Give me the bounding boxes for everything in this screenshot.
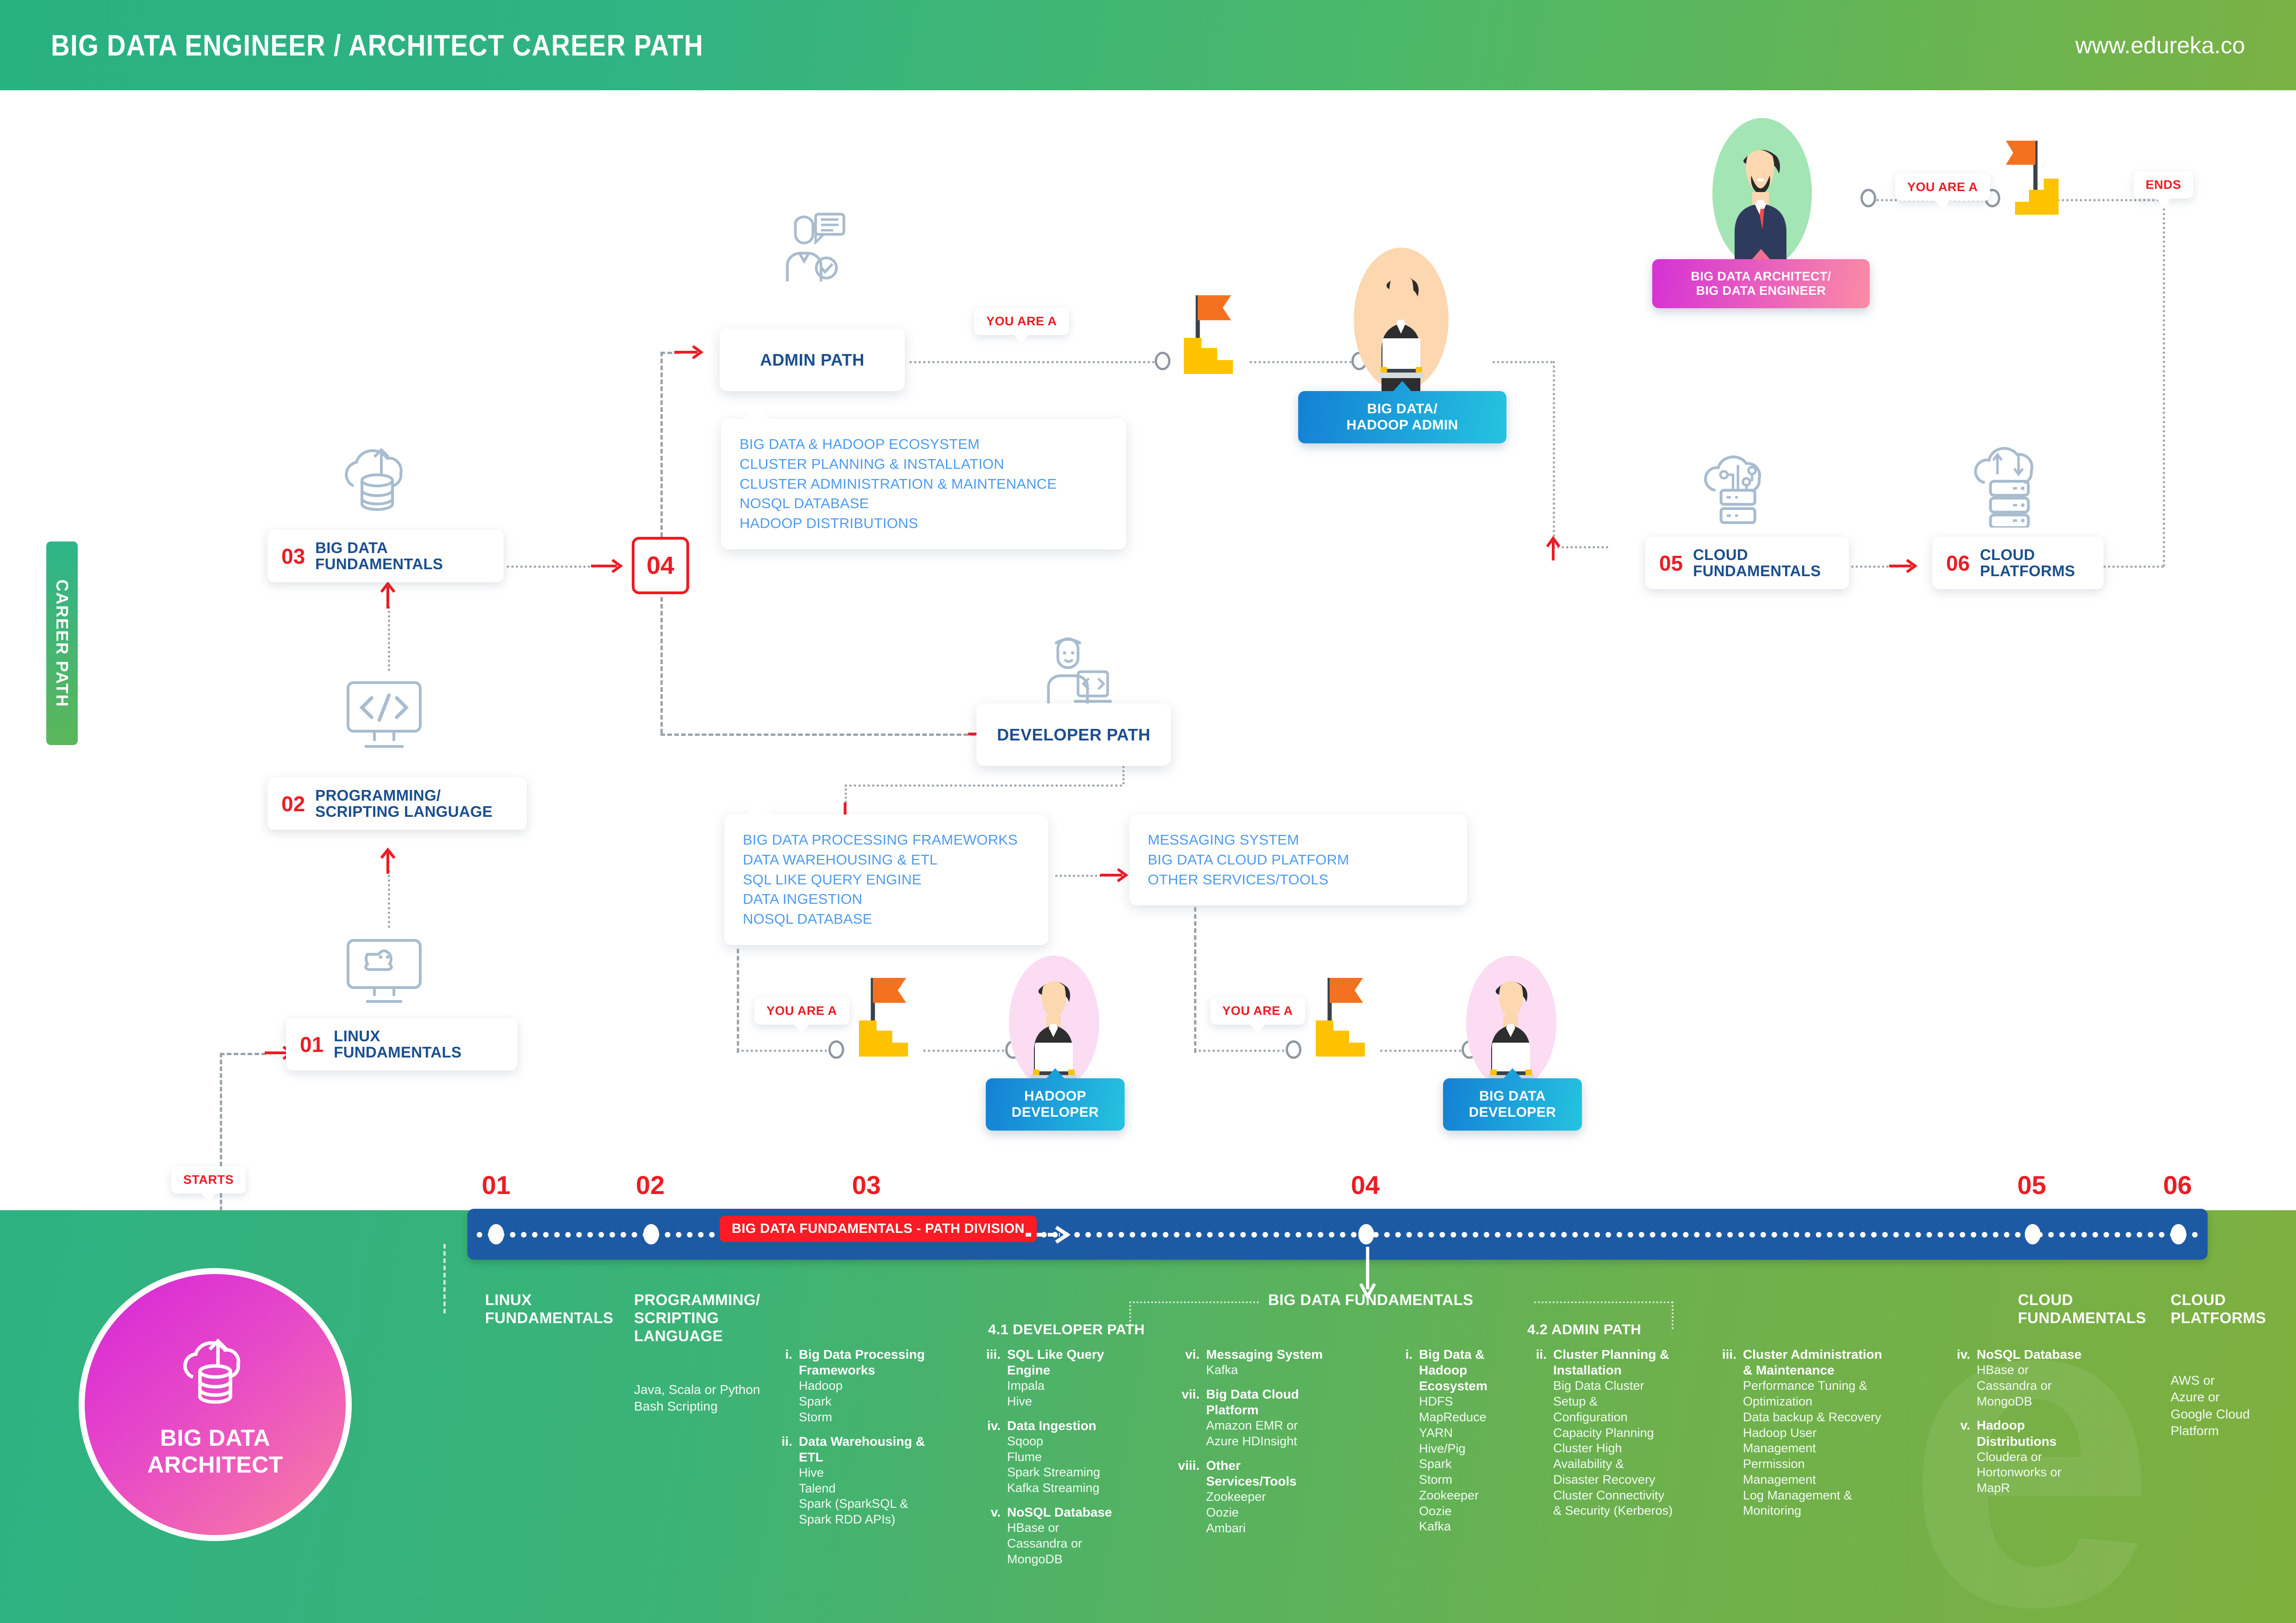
ends-label: ENDS — [2146, 178, 2181, 192]
item-title: Hadoop Distributions — [1977, 1418, 2090, 1449]
subheader-developer-path: 4.1 DEVELOPER PATH — [988, 1321, 1145, 1338]
bottom-col-header-bigdata: BIG DATA FUNDAMENTALS — [1268, 1291, 1546, 1309]
item-numeral: i. — [768, 1347, 792, 1425]
cloud-database-icon — [174, 1331, 257, 1412]
item-sub: Oozie — [1206, 1505, 1333, 1521]
item-sub: Hive — [1007, 1394, 1125, 1410]
list-item: iv. NoSQL Database HBase or Cassandra or… — [1946, 1347, 2090, 1409]
item-sub: Spark Streaming — [1007, 1465, 1125, 1480]
node-programming-language[interactable]: 02 PROGRAMMING/ SCRIPTING LANGUAGE — [268, 777, 527, 830]
item-sub: Spark — [799, 1394, 949, 1410]
bracket-right — [1534, 1301, 1673, 1303]
item-sub: Monitoring — [1743, 1503, 1888, 1519]
admin-skill-item: CLUSTER ADMINISTRATION & MAINTENANCE — [740, 474, 1108, 494]
admin-skill-item: BIG DATA & HADOOP ECOSYSTEM — [740, 435, 1108, 454]
connector-devskill1-to-2 — [1055, 875, 1106, 877]
hadoop-dev-you-are-a-bubble: YOU ARE A — [754, 997, 849, 1025]
career-path-tab: CAREER PATH — [46, 541, 78, 745]
bottom-col-header-linux: LINUX FUNDAMENTALS — [485, 1291, 624, 1327]
connector-starts-to-circle — [443, 1244, 446, 1313]
item-sub: Impala — [1007, 1378, 1125, 1394]
bigdata-architect-label: BIG DATA ARCHITECT — [147, 1425, 283, 1478]
list-item: v. NoSQL Database HBase or Cassandra or … — [977, 1505, 1125, 1567]
subheader-admin-path: 4.2 ADMIN PATH — [1527, 1321, 1641, 1338]
item-title: Big Data Processing Frameworks — [799, 1347, 949, 1378]
connector-node-circle — [828, 1040, 844, 1059]
item-title: Data Ingestion — [1007, 1418, 1125, 1434]
connector-devpath-left — [845, 784, 1122, 787]
timeline-number: 06 — [2163, 1170, 2192, 1200]
item-sub: Setup & — [1553, 1394, 1689, 1410]
connector-04-up — [660, 352, 663, 537]
cloud-database-icon — [336, 440, 419, 518]
list-item: viii. Other Services/Tools Zookeeper Ooz… — [1176, 1458, 1333, 1536]
role-label: HADOOP DEVELOPER — [1012, 1088, 1099, 1120]
list-item: iii. SQL Like Query Engine Impala Hive — [977, 1347, 1125, 1410]
list-item: ii. Cluster Planning & Installation Big … — [1523, 1347, 1689, 1519]
bottom-cloud-list: iv. NoSQL Database HBase or Cassandra or… — [1946, 1347, 2090, 1505]
developer-skill-item: DATA WAREHOUSING & ETL — [743, 850, 1030, 870]
you-are-a-label: YOU ARE A — [1222, 1004, 1293, 1018]
bottom-developer-list-b: iii. SQL Like Query Engine Impala Hive i… — [977, 1347, 1125, 1575]
node-label: BIG DATA FUNDAMENTALS — [315, 540, 443, 572]
item-sub: Disaster Recovery — [1553, 1472, 1689, 1488]
avatar-hadoop-admin — [1354, 248, 1449, 391]
node-cloud-platforms[interactable]: 06 CLOUD PLATFORMS — [1932, 537, 2103, 589]
role-chip-bigdata-developer[interactable]: BIG DATA DEVELOPER — [1443, 1078, 1582, 1131]
item-sub: Management — [1743, 1472, 1888, 1488]
developer-skills-bubble-1: BIG DATA PROCESSING FRAMEWORKS DATA WARE… — [724, 815, 1048, 945]
item-sub: HDFS — [1419, 1394, 1523, 1410]
item-numeral: iii. — [1712, 1347, 1736, 1519]
developer-skill-item: DATA INGESTION — [743, 889, 1030, 909]
item-sub: & Security (Kerberos) — [1553, 1503, 1689, 1519]
timeline-number: 02 — [636, 1170, 665, 1200]
item-sub: Cluster Connectivity — [1553, 1488, 1689, 1504]
item-sub: YARN — [1419, 1425, 1523, 1441]
connector-04-down — [660, 597, 663, 734]
arrow-to-cloud-platforms — [1888, 554, 1922, 578]
item-sub: Management — [1743, 1441, 1888, 1456]
starts-bubble: STARTS — [171, 1166, 246, 1194]
bottom-developer-list-a: i. Big Data Processing Frameworks Hadoop… — [768, 1347, 949, 1536]
timeline-number: 01 — [482, 1170, 510, 1200]
item-sub: Zookeeper — [1206, 1489, 1333, 1505]
item-sub: Hadoop — [799, 1378, 949, 1394]
list-item: i. Big Data Processing Frameworks Hadoop… — [768, 1347, 949, 1425]
node-linux-fundamentals[interactable]: 01 LINUX FUNDAMENTALS — [286, 1018, 517, 1070]
bigdata-dev-you-are-a-bubble: YOU ARE A — [1210, 997, 1305, 1025]
item-sub: Cassandra or — [1007, 1536, 1125, 1552]
connector-to-bigdata-dev — [1194, 907, 1196, 1053]
timeline-dot[interactable] — [1358, 1224, 1374, 1244]
item-title: Other Services/Tools — [1206, 1458, 1333, 1489]
you-are-a-label: YOU ARE A — [766, 1004, 837, 1018]
developer-skill-item: SQL LIKE QUERY ENGINE — [743, 870, 1030, 890]
code-monitor-icon — [342, 676, 426, 759]
admin-path-card[interactable]: ADMIN PATH — [720, 329, 905, 391]
item-title: Cluster Planning & Installation — [1553, 1347, 1689, 1378]
item-sub: Performance Tuning & — [1743, 1378, 1888, 1394]
list-item: i. Big Data & Hadoop Ecosystem HDFS MapR… — [1388, 1347, 1523, 1535]
admin-path-label: ADMIN PATH — [760, 350, 865, 370]
cloud-network-icon — [1699, 447, 1780, 528]
item-sub: Flume — [1007, 1449, 1125, 1465]
item-sub: Talend — [799, 1481, 949, 1497]
connector-admin-to-milestone — [909, 361, 1159, 363]
list-item: Azure or — [2171, 1389, 2286, 1405]
avatar-bigdata-architect — [1712, 118, 1812, 268]
node-number: 05 — [1659, 553, 1683, 574]
connector-hadoop-dev-line — [737, 1050, 832, 1052]
item-sub: Availability & — [1553, 1456, 1689, 1472]
item-numeral: i. — [1388, 1347, 1412, 1535]
connector-linux-to-programming — [388, 870, 390, 928]
admin-skill-item: NOSQL DATABASE — [740, 494, 1108, 514]
item-sub: HBase or — [1007, 1520, 1125, 1536]
connector-devpath-down2 — [845, 784, 847, 803]
item-sub: Hadoop User — [1743, 1425, 1888, 1441]
node-number: 01 — [300, 1034, 324, 1055]
arrow-up-bigdata — [375, 581, 401, 609]
item-sub: Kafka — [1206, 1362, 1333, 1378]
milestone-flag-stairs-icon — [1303, 970, 1381, 1062]
item-sub: Log Management & — [1743, 1488, 1888, 1504]
role-chip-hadoop-admin[interactable]: BIG DATA/ HADOOP ADMIN — [1298, 391, 1506, 443]
item-numeral: iii. — [977, 1347, 1001, 1410]
connector-04-down-right — [660, 734, 975, 736]
item-sub: Sqoop — [1007, 1434, 1125, 1449]
item-sub: Kafka — [1419, 1519, 1523, 1535]
item-sub: MapR — [1977, 1480, 2090, 1496]
bracket-left — [1129, 1301, 1259, 1303]
bracket-right-drop — [1672, 1301, 1674, 1329]
starts-label: STARTS — [183, 1173, 234, 1187]
arrow-to-04 — [590, 554, 627, 578]
item-sub: Hive/Pig — [1419, 1441, 1523, 1457]
item-sub: Spark (SparkSQL & — [799, 1496, 949, 1512]
developer-skills-bubble-2: MESSAGING SYSTEM BIG DATA CLOUD PLATFORM… — [1129, 815, 1467, 905]
list-item: AWS or — [2171, 1372, 2286, 1389]
milestone-flag-stairs-icon — [1171, 287, 1250, 379]
avatar-figure — [1712, 118, 1812, 268]
item-sub: Permission — [1743, 1456, 1888, 1472]
node-label: CLOUD PLATFORMS — [1980, 547, 2075, 579]
bottom-programming-list: Java, Scala or Python Bash Scripting — [634, 1381, 768, 1415]
item-numeral: vii. — [1176, 1387, 1200, 1449]
bottom-developer-list-c: vi. Messaging System Kafka vii. Big Data… — [1176, 1347, 1333, 1544]
node-label: PROGRAMMING/ SCRIPTING LANGUAGE — [315, 788, 492, 820]
item-numeral: ii. — [1523, 1347, 1547, 1519]
developer-skill-item: BIG DATA CLOUD PLATFORM — [1148, 850, 1449, 870]
admin-skill-item: HADOOP DISTRIBUTIONS — [740, 514, 1108, 534]
list-item: Bash Scripting — [634, 1398, 768, 1415]
item-numeral: viii. — [1176, 1458, 1200, 1536]
timeline-dot[interactable] — [2171, 1224, 2186, 1244]
list-item: iv. Data Ingestion Sqoop Flume Spark Str… — [977, 1418, 1125, 1496]
item-title: Big Data Cloud Platform — [1206, 1387, 1333, 1418]
role-label: BIG DATA DEVELOPER — [1469, 1088, 1556, 1120]
bottom-admin-list-b: ii. Cluster Planning & Installation Big … — [1523, 1347, 1689, 1527]
developer-skill-item: OTHER SERVICES/TOOLS — [1148, 870, 1449, 890]
brand-url: www.edureka.co — [2075, 32, 2245, 59]
connector-admin-to-cloud-b — [1553, 361, 1555, 546]
role-chip-bigdata-architect[interactable]: BIG DATA ARCHITECT/ BIG DATA ENGINEER — [1652, 259, 1870, 308]
item-sub: Kafka Streaming — [1007, 1480, 1125, 1496]
avatar-figure — [1354, 248, 1449, 391]
timeline-dot[interactable] — [2025, 1224, 2041, 1244]
item-title: NoSQL Database — [1977, 1347, 2090, 1362]
developer-path-label: DEVELOPER PATH — [997, 725, 1151, 745]
list-item: Google Cloud — [2171, 1406, 2286, 1423]
connector-starts-up — [220, 1053, 222, 1166]
timeline-number: 05 — [2017, 1170, 2046, 1200]
node-number: 06 — [1946, 553, 1970, 574]
list-item: ii. Data Warehousing & ETL Hive Talend S… — [768, 1434, 949, 1528]
item-numeral: v. — [1946, 1418, 1970, 1496]
item-sub: Cassandra or — [1977, 1378, 2090, 1394]
role-label: BIG DATA/ HADOOP ADMIN — [1346, 401, 1458, 433]
node-bigdata-fundamentals[interactable]: 03 BIG DATA FUNDAMENTALS — [268, 530, 504, 582]
page-title: BIG DATA ENGINEER / ARCHITECT CAREER PAT… — [51, 28, 703, 62]
item-sub: Storm — [799, 1410, 949, 1425]
item-sub: MongoDB — [1007, 1552, 1125, 1567]
connector-bigdata-to-04 — [507, 566, 595, 568]
bottom-admin-list-c: iii. Cluster Administration & Maintenanc… — [1712, 1347, 1888, 1527]
item-title: Cluster Administration & Maintenance — [1743, 1347, 1888, 1378]
item-sub: Oozie — [1419, 1504, 1523, 1519]
bottom-col-header-programming: PROGRAMMING/ SCRIPTING LANGUAGE — [634, 1291, 773, 1345]
admin-skill-item: CLUSTER PLANNING & INSTALLATION — [740, 454, 1108, 474]
bigdata-architect-badge[interactable]: BIG DATA ARCHITECT — [79, 1268, 352, 1541]
list-item: v. Hadoop Distributions Cloudera or Hort… — [1946, 1418, 2090, 1496]
admin-you-are-a-bubble: YOU ARE A — [974, 308, 1069, 335]
connector-admin-to-cloud-a — [1493, 361, 1553, 363]
bottom-col-header-cloudplat: CLOUD PLATFORMS — [2171, 1291, 2296, 1327]
item-sub: Spark RDD APIs) — [799, 1512, 949, 1528]
connector-node-circle — [1860, 189, 1876, 207]
admin-skills-bubble: BIG DATA & HADOOP ECOSYSTEM CLUSTER PLAN… — [721, 419, 1126, 549]
item-numeral: iv. — [1946, 1347, 1970, 1409]
stage-04-label: 04 — [647, 551, 674, 580]
role-label: BIG DATA ARCHITECT/ BIG DATA ENGINEER — [1691, 269, 1831, 298]
item-sub: Zookeeper — [1419, 1488, 1523, 1504]
admin-user-icon — [775, 208, 849, 285]
connector-cloudplat-up — [2163, 199, 2165, 567]
item-sub: Azure HDInsight — [1206, 1434, 1333, 1449]
item-sub: Cloudera or — [1977, 1449, 2090, 1465]
item-sub: Data backup & Recovery — [1743, 1410, 1888, 1425]
bottom-admin-list-a: i. Big Data & Hadoop Ecosystem HDFS MapR… — [1388, 1347, 1523, 1543]
item-numeral: ii. — [768, 1434, 792, 1528]
item-title: Data Warehousing & ETL — [799, 1434, 949, 1465]
milestone-flag-stairs-icon — [1999, 134, 2069, 218]
item-sub: Cluster High — [1553, 1441, 1689, 1456]
page-header: BIG DATA ENGINEER / ARCHITECT CAREER PAT… — [0, 0, 2296, 90]
connector-cloudplat-right — [2103, 566, 2164, 568]
connector-starts-right — [220, 1053, 266, 1055]
arrow-to-devskills2 — [1099, 863, 1132, 887]
connector-programming-to-bigdata — [388, 606, 390, 671]
item-sub: Capacity Planning — [1553, 1425, 1689, 1441]
timeline-number: 04 — [1351, 1170, 1380, 1200]
stage-04-badge[interactable]: 04 — [632, 537, 689, 594]
timeline-dot[interactable] — [643, 1224, 659, 1244]
timeline-number: 03 — [852, 1170, 881, 1200]
developer-skill-item: MESSAGING SYSTEM — [1148, 830, 1449, 850]
list-item: vii. Big Data Cloud Platform Amazon EMR … — [1176, 1387, 1333, 1449]
item-title: Messaging System — [1206, 1347, 1333, 1362]
timeline-arrow-icon — [1023, 1222, 1074, 1248]
item-sub: Hortonworks or — [1977, 1465, 2090, 1480]
path-division-label: BIG DATA FUNDAMENTALS - PATH DIVISION — [732, 1221, 1025, 1236]
item-sub: MongoDB — [1977, 1394, 2090, 1410]
path-division-pill: BIG DATA FUNDAMENTALS - PATH DIVISION — [720, 1216, 1037, 1242]
item-title: Big Data & Hadoop Ecosystem — [1419, 1347, 1523, 1394]
item-sub: Storm — [1419, 1472, 1523, 1488]
list-item: Java, Scala or Python — [634, 1381, 768, 1398]
developer-path-card[interactable]: DEVELOPER PATH — [977, 703, 1171, 766]
linux-monitor-icon — [342, 935, 426, 1011]
connector-milestone-hadoopdev — [923, 1050, 1009, 1052]
milestone-flag-stairs-icon — [846, 970, 925, 1062]
item-sub: Ambari — [1206, 1521, 1333, 1536]
cloud-servers-icon — [1969, 442, 2050, 528]
item-sub: HBase or — [1977, 1362, 2090, 1378]
ends-bubble: ENDS — [2134, 171, 2193, 199]
developer-skill-item: BIG DATA PROCESSING FRAMEWORKS — [743, 830, 1030, 850]
item-numeral: iv. — [977, 1418, 1001, 1496]
infographic-canvas: BIG DATA ENGINEER / ARCHITECT CAREER PAT… — [0, 0, 2296, 1623]
connector-devpath-down — [1122, 766, 1125, 784]
item-numeral: v. — [977, 1505, 1001, 1567]
list-item: Platform — [2171, 1423, 2286, 1439]
developer-user-icon — [1039, 634, 1113, 708]
node-label: CLOUD FUNDAMENTALS — [1693, 547, 1821, 579]
list-item: vi. Messaging System Kafka — [1176, 1347, 1333, 1378]
bottom-cloud-platform-list: AWS or Azure or Google Cloud Platform — [2171, 1372, 2286, 1440]
item-sub: Hive — [799, 1465, 949, 1481]
item-sub: Configuration — [1553, 1410, 1689, 1425]
node-number: 02 — [281, 793, 305, 815]
list-item: iii. Cluster Administration & Maintenanc… — [1712, 1347, 1888, 1519]
connector-node-circle — [1155, 352, 1170, 370]
arrow-to-admin-path — [673, 340, 706, 364]
node-label: LINUX FUNDAMENTALS — [334, 1028, 461, 1060]
item-sub: Spark — [1419, 1456, 1523, 1472]
connector-milestone-to-avatar — [1250, 361, 1356, 363]
item-sub: Optimization — [1743, 1394, 1888, 1410]
connector-milestone-bigdatadev — [1380, 1050, 1466, 1052]
node-number: 03 — [281, 546, 305, 567]
you-are-a-label: YOU ARE A — [1907, 180, 1978, 194]
timeline-dot[interactable] — [488, 1224, 504, 1244]
career-path-tab-label: CAREER PATH — [52, 579, 72, 708]
role-chip-hadoop-developer[interactable]: HADOOP DEVELOPER — [986, 1078, 1125, 1131]
architect-you-are-a-bubble: YOU ARE A — [1895, 174, 1990, 201]
item-sub: Amazon EMR or — [1206, 1418, 1333, 1434]
arrow-up-cloud — [1541, 535, 1565, 561]
item-numeral: vi. — [1176, 1347, 1200, 1378]
you-are-a-label: YOU ARE A — [986, 314, 1057, 328]
connector-to-hadoop-dev — [737, 949, 739, 1053]
item-sub: Big Data Cluster — [1553, 1378, 1689, 1394]
node-cloud-fundamentals[interactable]: 05 CLOUD FUNDAMENTALS — [1645, 537, 1849, 589]
item-title: NoSQL Database — [1007, 1505, 1125, 1520]
item-sub: MapReduce — [1419, 1410, 1523, 1425]
item-title: SQL Like Query Engine — [1007, 1347, 1125, 1378]
developer-skill-item: NOSQL DATABASE — [743, 909, 1030, 929]
connector-bigdata-dev-line — [1194, 1050, 1289, 1052]
connector-to-ends — [2057, 199, 2164, 201]
arrow-up-programming — [375, 847, 401, 875]
bottom-col-header-cloudfund: CLOUD FUNDAMENTALS — [2018, 1291, 2157, 1327]
connector-node-circle — [1286, 1040, 1301, 1059]
